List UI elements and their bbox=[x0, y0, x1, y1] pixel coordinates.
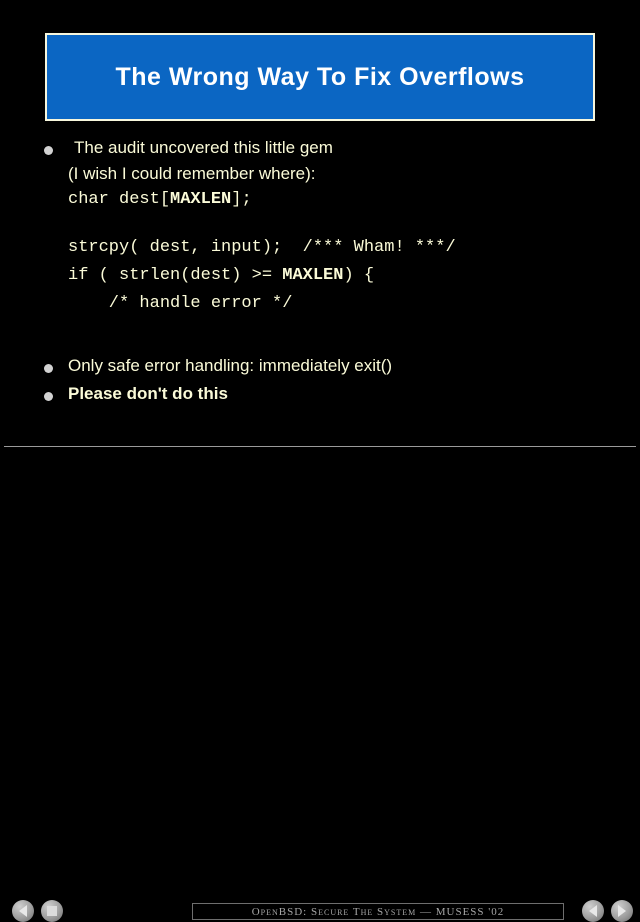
code-text-suffix: ]; bbox=[231, 190, 251, 209]
stop-icon[interactable] bbox=[41, 900, 63, 922]
code-line-if: if ( strlen(dest) >= MAXLEN) { bbox=[68, 266, 374, 285]
triangle-right-glyph bbox=[618, 905, 626, 917]
triangle-left-glyph bbox=[589, 905, 597, 917]
forward-icon[interactable] bbox=[611, 900, 633, 922]
bullet-marker-1 bbox=[44, 146, 53, 155]
code-line-comment: /* handle error */ bbox=[68, 294, 292, 313]
code-line-strcpy: strcpy( dest, input); /*** Wham! ***/ bbox=[68, 238, 456, 257]
square-glyph bbox=[47, 906, 57, 916]
code-if-suffix: ) { bbox=[343, 266, 374, 285]
footer-divider bbox=[4, 446, 636, 447]
page-title: The Wrong Way To Fix Overflows bbox=[115, 63, 524, 92]
slide-body: The audit uncovered this little gem (I w… bbox=[0, 128, 640, 428]
previous-slide-icon[interactable] bbox=[12, 900, 34, 922]
triangle-left-glyph bbox=[19, 905, 27, 917]
slide-canvas: The Wrong Way To Fix Overflows The audit… bbox=[0, 0, 640, 480]
bullet-marker-3 bbox=[44, 392, 53, 401]
slide-title-banner: The Wrong Way To Fix Overflows bbox=[45, 33, 595, 121]
footer-bar: OpenBSD: Secure The System — MUSESS '02 bbox=[0, 448, 640, 480]
code-text-macro: MAXLEN bbox=[170, 190, 231, 209]
footer-title-box: OpenBSD: Secure The System — MUSESS '02 bbox=[192, 903, 564, 920]
bullet-item-2: Only safe error handling: immediately ex… bbox=[68, 356, 392, 376]
back-icon[interactable] bbox=[582, 900, 604, 922]
bullet-item-3: Please don't do this bbox=[68, 384, 228, 404]
bullet-item-1-continuation: (I wish I could remember where): bbox=[68, 164, 316, 184]
code-line-declaration: char dest[MAXLEN]; bbox=[68, 190, 252, 209]
code-if-macro: MAXLEN bbox=[282, 266, 343, 285]
code-if-prefix: if ( strlen(dest) >= bbox=[68, 266, 282, 285]
footer-title: OpenBSD: Secure The System — MUSESS '02 bbox=[252, 906, 505, 918]
code-text-prefix: char dest[ bbox=[68, 190, 170, 209]
bullet-marker-2 bbox=[44, 364, 53, 373]
bullet-item-1: The audit uncovered this little gem bbox=[74, 138, 333, 158]
